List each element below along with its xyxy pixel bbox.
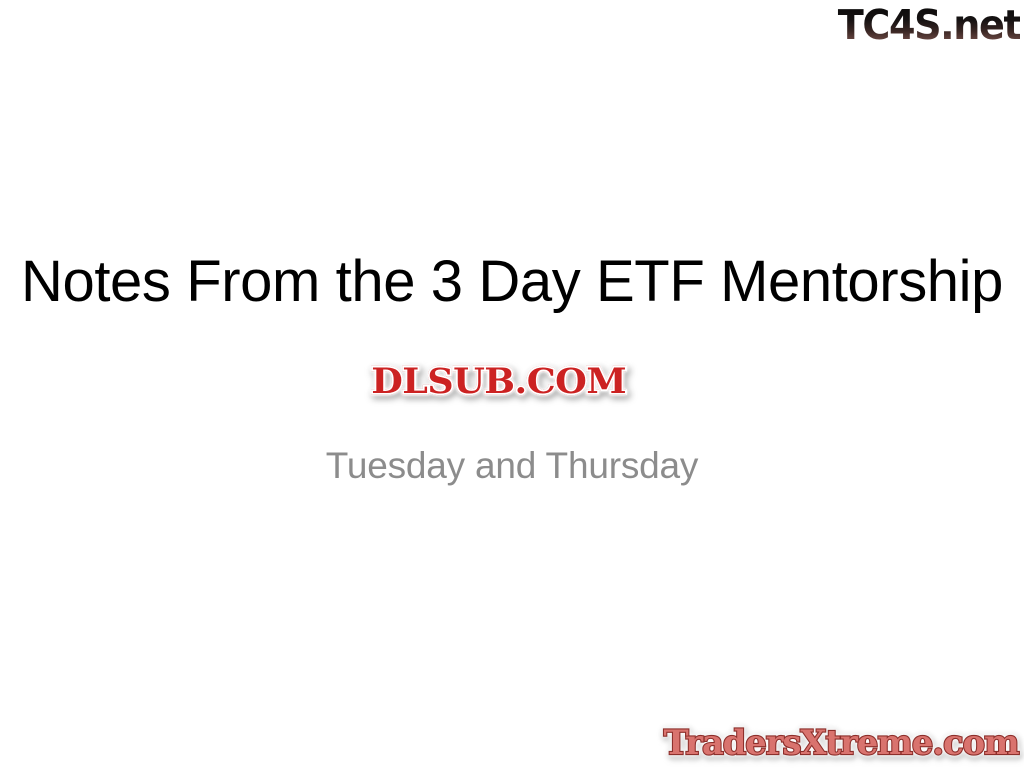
watermark-tc4s-logo: TC4S.net bbox=[837, 2, 1020, 49]
watermark-dlsub-logo: DLSUB.COM bbox=[366, 361, 631, 404]
watermark-tradersxtreme-logo: TradersXtreme.com bbox=[664, 725, 1019, 762]
watermark-dlsub-text: DLSUB.COM bbox=[371, 361, 626, 402]
page-title: Notes From the 3 Day ETF Mentorship bbox=[0, 246, 1024, 317]
title-placeholder: Notes From the 3 Day ETF Mentorship bbox=[0, 246, 1024, 317]
page-subtitle: Tuesday and Thursday bbox=[0, 443, 1024, 489]
presentation-slide: Notes From the 3 Day ETF Mentorship Tues… bbox=[0, 0, 1024, 768]
subtitle-placeholder: Tuesday and Thursday bbox=[0, 443, 1024, 489]
